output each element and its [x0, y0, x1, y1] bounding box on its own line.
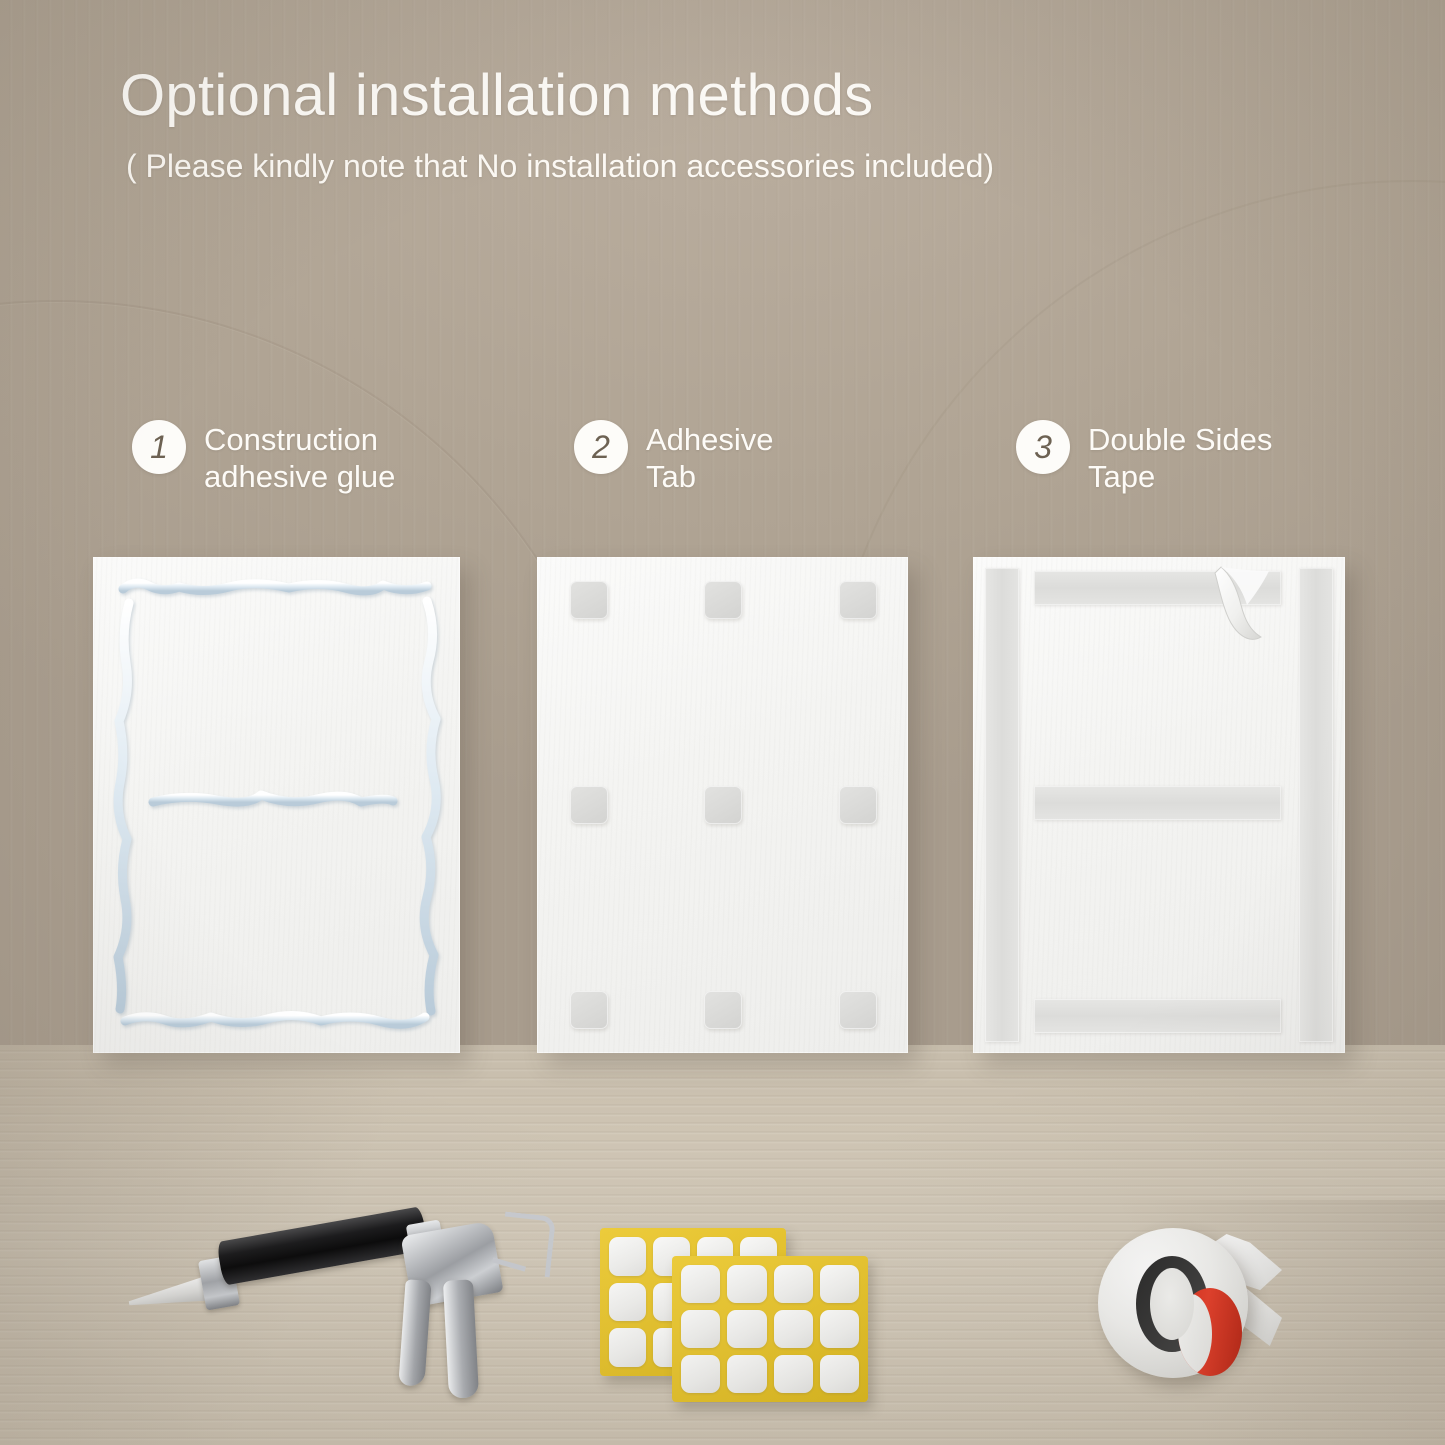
tab-sheet-cell	[609, 1328, 646, 1367]
tab-sheet-cell	[820, 1265, 859, 1303]
panel-adhesive-tab	[537, 557, 908, 1053]
glue-bead-illustration	[93, 557, 460, 1053]
adhesive-tab	[570, 581, 608, 619]
method-label-1: 1 Construction adhesive glue	[132, 420, 395, 495]
tab-sheet-cell	[681, 1265, 720, 1303]
installation-methods-infographic: Optional installation methods ( Please k…	[0, 0, 1445, 1445]
adhesive-tab	[704, 991, 742, 1029]
tab-sheet-front	[672, 1256, 868, 1402]
panel-construction-adhesive-glue	[93, 557, 460, 1053]
adhesive-tab	[839, 786, 877, 824]
tab-sheet-cell	[774, 1265, 813, 1303]
tape-strip-horizontal-middle	[1034, 786, 1281, 820]
tab-sheet-cell	[727, 1310, 766, 1348]
adhesive-tab	[570, 786, 608, 824]
tape-strip-horizontal-bottom	[1034, 999, 1281, 1033]
method-number-badge-3: 3	[1016, 420, 1070, 474]
tab-sheet-cell	[681, 1310, 720, 1348]
product-tape-roll	[1098, 1228, 1298, 1403]
gun-hook	[499, 1212, 556, 1278]
method-number-badge-1: 1	[132, 420, 186, 474]
tab-sheet-cell	[681, 1355, 720, 1393]
tab-sheet-cell	[609, 1283, 646, 1322]
product-adhesive-tab-sheets	[596, 1222, 866, 1432]
adhesive-tab	[839, 581, 877, 619]
adhesive-tab	[839, 991, 877, 1029]
method-title-3: Double Sides Tape	[1088, 420, 1272, 495]
page-subtitle: ( Please kindly note that No installatio…	[126, 148, 994, 185]
method-label-3: 3 Double Sides Tape	[1016, 420, 1272, 495]
tab-sheet-cell	[820, 1310, 859, 1348]
gun-grip	[443, 1279, 479, 1398]
gun-barrel	[216, 1206, 428, 1285]
tab-sheet-cell	[820, 1355, 859, 1393]
tape-strip-horizontal-top	[1034, 571, 1281, 605]
method-title-2: Adhesive Tab	[646, 420, 774, 495]
tape-roll-body	[1098, 1228, 1248, 1378]
method-label-2: 2 Adhesive Tab	[574, 420, 774, 495]
panel-double-sides-tape	[973, 557, 1345, 1053]
adhesive-tab	[704, 581, 742, 619]
tab-sheet-cell	[774, 1310, 813, 1348]
tab-sheet-cell	[727, 1265, 766, 1303]
adhesive-tab	[570, 991, 608, 1029]
tape-strip-vertical-right	[1299, 568, 1333, 1042]
adhesive-tab	[704, 786, 742, 824]
method-title-1: Construction adhesive glue	[204, 420, 395, 495]
product-caulking-gun	[110, 1218, 570, 1418]
method-number-badge-2: 2	[574, 420, 628, 474]
gun-trigger	[398, 1279, 431, 1387]
tab-sheet-cell	[609, 1237, 646, 1276]
tab-sheet-cell	[727, 1355, 766, 1393]
page-title: Optional installation methods	[120, 62, 873, 129]
tape-roll-center-hole	[1150, 1268, 1194, 1340]
tab-sheet-cell	[774, 1355, 813, 1393]
tape-strip-vertical-left	[985, 568, 1019, 1042]
